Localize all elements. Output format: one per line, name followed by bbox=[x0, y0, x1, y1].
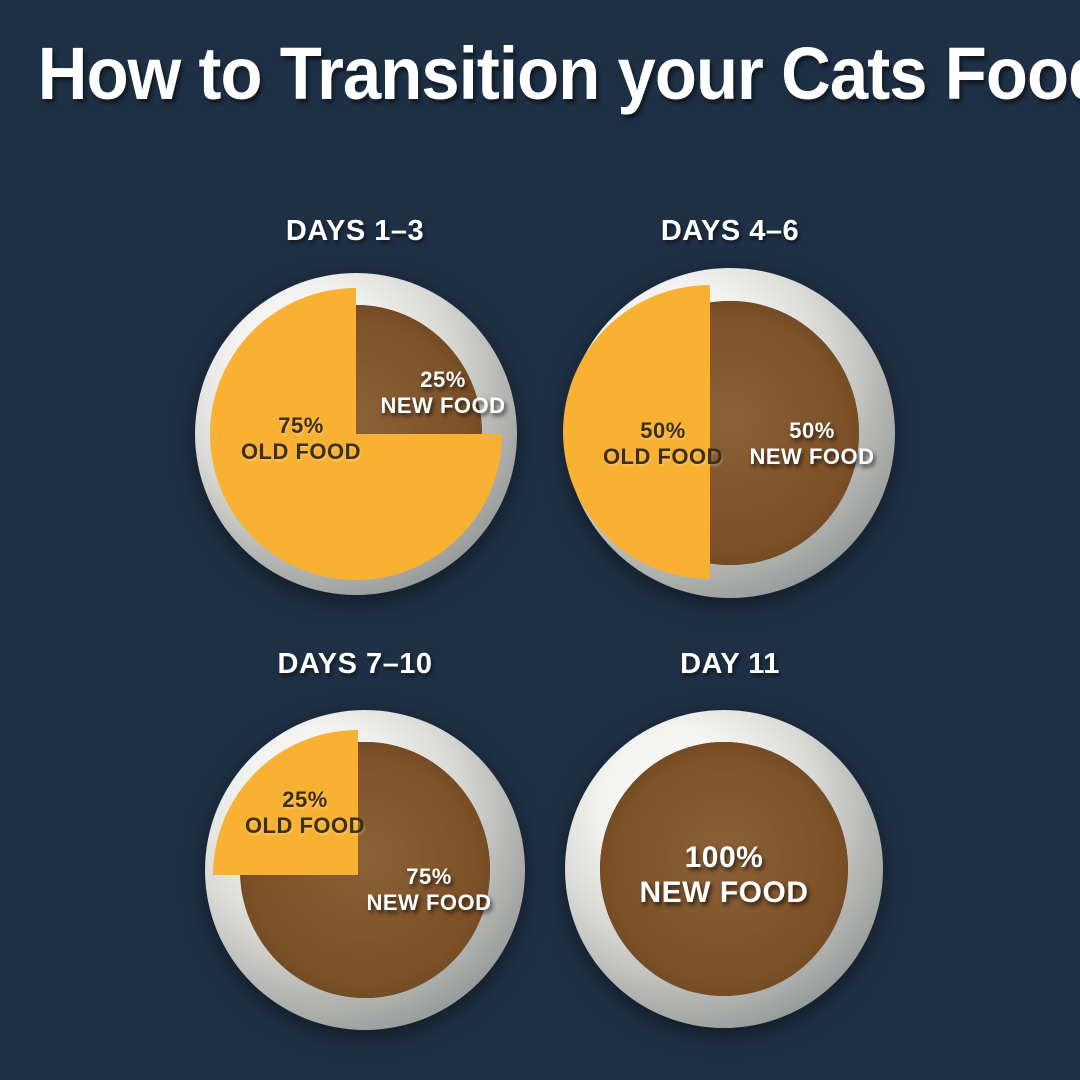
new-food-caption-1: NEW FOOD bbox=[348, 393, 538, 419]
old-food-label-3: 25% OLD FOOD bbox=[215, 787, 395, 839]
old-food-caption-1: OLD FOOD bbox=[206, 439, 396, 465]
panel-days-1-3: DAYS 1–3 75% OLD FOOD 25% NEW FOOD bbox=[170, 215, 540, 615]
old-food-label-1: 75% OLD FOOD bbox=[206, 413, 396, 465]
new-food-caption-2: NEW FOOD bbox=[717, 444, 907, 470]
panel-day-11: DAY 11 100% NEW FOOD bbox=[545, 648, 915, 1048]
panel-heading-days-4-6: DAYS 4–6 bbox=[545, 215, 915, 248]
new-food-percent-2: 50% bbox=[717, 418, 907, 444]
new-food-label-1: 25% NEW FOOD bbox=[348, 367, 538, 419]
panel-days-7-10: DAYS 7–10 25% OLD FOOD 75% NEW FOOD bbox=[170, 648, 540, 1048]
panel-heading-day-11: DAY 11 bbox=[545, 648, 915, 681]
new-food-label-4: 100% NEW FOOD bbox=[624, 840, 824, 911]
new-food-caption-3: NEW FOOD bbox=[329, 890, 529, 916]
page-title: How to Transition your Cats Food bbox=[38, 34, 1042, 114]
new-food-label-3: 75% NEW FOOD bbox=[329, 864, 529, 916]
new-food-caption-4: NEW FOOD bbox=[624, 875, 824, 910]
panel-days-4-6: DAYS 4–6 50% OLD FOOD 50% NEW FOOD bbox=[545, 215, 915, 615]
new-food-percent-4: 100% bbox=[624, 840, 824, 875]
panel-heading-days-7-10: DAYS 7–10 bbox=[170, 648, 540, 681]
new-food-label-2: 50% NEW FOOD bbox=[717, 418, 907, 470]
new-food-percent-3: 75% bbox=[329, 864, 529, 890]
old-food-percent-3: 25% bbox=[215, 787, 395, 813]
new-food-percent-1: 25% bbox=[348, 367, 538, 393]
panel-heading-days-1-3: DAYS 1–3 bbox=[170, 215, 540, 248]
old-food-caption-3: OLD FOOD bbox=[215, 813, 395, 839]
